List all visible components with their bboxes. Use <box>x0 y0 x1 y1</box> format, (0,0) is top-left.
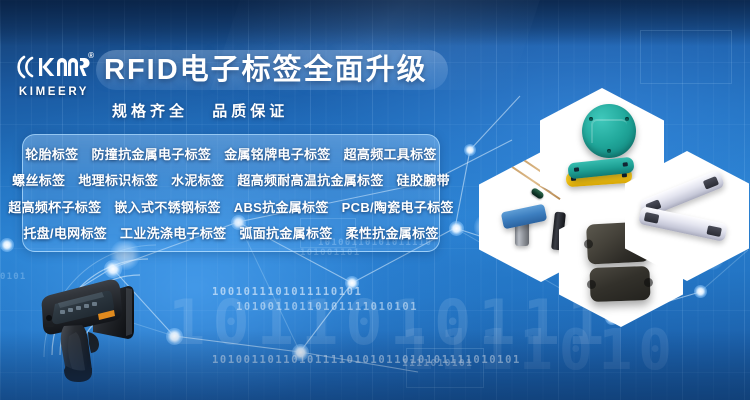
binary-large-2: 1111010 <box>400 318 678 383</box>
anti-metal-tag-lower <box>589 266 650 302</box>
top-light-sheen <box>211 0 550 90</box>
flexible-tag-lower <box>638 206 728 242</box>
network-node <box>694 285 707 298</box>
network-node <box>345 276 359 290</box>
binary-small-1: 1001011101011110101 <box>212 286 363 298</box>
tag-item: 弧面抗金属标签 <box>239 223 332 242</box>
subtitle-part-right: 品质保证 <box>212 103 288 120</box>
binary-small-7: 0101 <box>0 272 26 282</box>
round-disc-tag <box>582 104 636 158</box>
chip-contact <box>623 162 628 167</box>
tag-item: PCB/陶瓷电子标签 <box>342 197 454 216</box>
binary-small-2: 10100110110101111010101 <box>236 301 418 313</box>
network-node <box>292 344 309 361</box>
tag-item: 硅胶腕带 <box>397 170 450 189</box>
page-subtitle: 规格齐全 品质保证 <box>112 100 304 121</box>
network-node <box>449 221 464 236</box>
tag-item: 超高频耐高温抗金属标签 <box>237 170 383 189</box>
tag-notch <box>644 278 653 287</box>
registered-trademark-icon: ® <box>88 51 94 60</box>
circuit-rect-3 <box>640 30 732 84</box>
tag-notch <box>584 239 593 248</box>
tag-item: 嵌入式不锈钢标签 <box>114 197 220 216</box>
tag-item: ABS抗金属标签 <box>234 197 329 216</box>
tag-item: 防撞抗金属电子标签 <box>91 144 211 163</box>
tag-item: 螺丝标签 <box>12 170 65 189</box>
tag-chip-window <box>644 212 660 224</box>
tag-row: 螺丝标签 地理标识标签 水泥标签 超高频耐高温抗金属标签 硅胶腕带 <box>23 167 439 192</box>
network-node <box>464 144 476 156</box>
title-backdrop-band <box>96 50 448 90</box>
binary-large-1: 1011010111 <box>168 286 611 359</box>
tag-notch <box>587 280 596 289</box>
handheld-rfid-reader <box>36 274 176 386</box>
tag-list-panel: 轮胎标签 防撞抗金属电子标签 金属铭牌电子标签 超高频工具标签 螺丝标签 地理标… <box>22 134 440 252</box>
subtitle-part-left: 规格齐全 <box>112 103 188 120</box>
brand-logo: ® KIMEERY <box>12 52 96 98</box>
network-node <box>0 238 14 252</box>
tag-row: 超高频杯子标签 嵌入式不锈钢标签 ABS抗金属标签 PCB/陶瓷电子标签 <box>23 194 439 219</box>
tag-row: 托盘/电网标签 工业洗涤电子标签 弧面抗金属标签 柔性抗金属标签 <box>23 220 439 245</box>
tag-item: 柔性抗金属标签 <box>346 223 439 242</box>
kmr-monogram-icon: ® <box>12 52 96 82</box>
top-shadow-overlay <box>0 0 750 46</box>
tag-chip-window <box>703 176 719 190</box>
binary-small-4: 1111010101 <box>402 358 473 369</box>
binary-small-3: 101001101101011110101011010101111010101 <box>212 354 521 366</box>
tag-item: 金属铭牌电子标签 <box>224 144 330 163</box>
brand-wordmark: KIMEERY <box>12 86 96 98</box>
page-title: RFID电子标签全面升级 <box>104 50 428 90</box>
tag-item: 轮胎标签 <box>25 144 78 163</box>
tag-item: 托盘/电网标签 <box>23 223 107 242</box>
mount-hole <box>589 117 593 121</box>
chip-contact <box>574 167 579 172</box>
tag-item: 地理标识标签 <box>78 170 158 189</box>
rfid-product-banner: 1011010111 1111010 1001011101011110101 1… <box>0 0 750 400</box>
mount-hole <box>607 149 611 153</box>
tag-chip-window <box>706 225 722 237</box>
tag-item: 工业洗涤电子标签 <box>120 223 226 242</box>
mount-hole <box>625 117 629 121</box>
tag-item: 水泥标签 <box>171 170 224 189</box>
tag-row: 轮胎标签 防撞抗金属电子标签 金属铭牌电子标签 超高频工具标签 <box>23 141 439 166</box>
circuit-rect-2 <box>406 348 484 388</box>
tag-item: 超高频杯子标签 <box>8 197 101 216</box>
tag-item: 超高频工具标签 <box>344 144 437 163</box>
